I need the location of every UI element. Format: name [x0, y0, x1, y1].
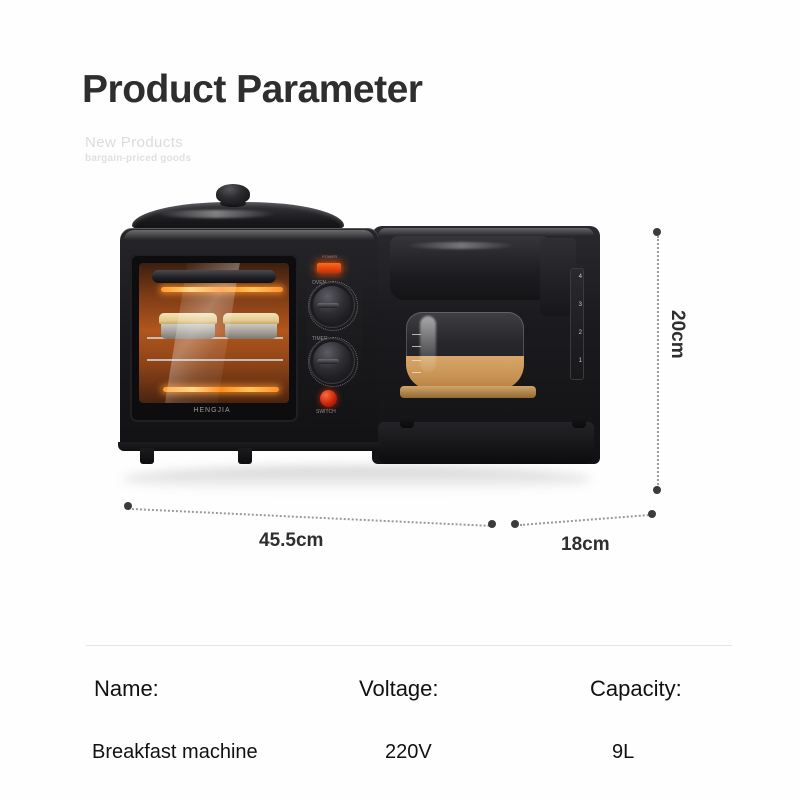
spec-header-name: Name: [94, 676, 159, 702]
warming-plate [400, 386, 536, 398]
oven-foot [140, 448, 154, 464]
power-switch[interactable] [312, 260, 346, 276]
temperature-knob[interactable] [313, 286, 351, 324]
toaster-oven-body: HENGJIA POWER OVEN TIMER SWITCH [120, 228, 378, 450]
carafe-graduation [412, 346, 421, 347]
coffee-maker-base [378, 422, 594, 464]
coffee-maker-foot [400, 416, 414, 428]
spec-header-voltage: Voltage: [359, 676, 439, 702]
coffee-maker-lid-sheen [406, 242, 516, 249]
height-dim-label: 20cm [666, 310, 688, 359]
glass-carafe [406, 312, 524, 390]
carafe-graduation [412, 372, 421, 373]
spec-value-voltage: 220V [385, 741, 432, 764]
brand-logo: HENGJIA [190, 404, 234, 416]
spec-divider [86, 645, 732, 646]
height-dim-dot-bottom [653, 486, 661, 494]
red-button-label: SWITCH [316, 409, 336, 415]
coffee-maker-top-highlight [378, 228, 594, 236]
width-dim-label: 45.5cm [259, 530, 323, 552]
gauge-mark-1: 1 [572, 358, 582, 364]
surface-reflection [122, 466, 592, 492]
spec-value-capacity: 9L [612, 741, 634, 764]
carafe-highlight [420, 316, 436, 372]
carafe-graduation [412, 360, 421, 361]
product-photo: 4 3 2 1 [100, 180, 660, 500]
power-indicator-light [317, 263, 341, 273]
depth-dim-label: 18cm [561, 534, 610, 556]
spec-header-capacity: Capacity: [590, 676, 682, 702]
water-level-gauge: 4 3 2 1 [570, 268, 584, 380]
griddle-lid-sheen [156, 210, 276, 218]
depth-dim-dot-left [511, 520, 519, 528]
spec-value-name: Breakfast machine [92, 741, 258, 764]
width-dim-line [132, 508, 494, 527]
lid-knob [216, 184, 250, 204]
gauge-mark-3: 3 [572, 302, 582, 308]
oven-glass-window [139, 263, 289, 403]
oven-door[interactable]: HENGJIA [130, 254, 298, 422]
power-label: POWER [322, 254, 337, 259]
width-dim-dot-right [488, 520, 496, 528]
gauge-mark-4: 4 [572, 274, 582, 280]
carafe-graduation [412, 334, 421, 335]
oven-foot [238, 448, 252, 464]
page-title: Product Parameter [82, 68, 422, 112]
height-dim-dot-top [653, 228, 661, 236]
red-power-button[interactable] [320, 390, 337, 407]
oven-door-handle[interactable] [152, 270, 276, 283]
gauge-mark-2: 2 [572, 330, 582, 336]
control-panel: POWER OVEN TIMER SWITCH [306, 254, 362, 424]
depth-dim-dot-right [648, 510, 656, 518]
width-dim-dot-left [124, 502, 132, 510]
timer-knob[interactable] [313, 342, 351, 380]
product-parameter-page: Product Parameter New Products bargain-p… [0, 0, 800, 800]
oven-top-highlight [124, 230, 374, 240]
subtitle-new-products: New Products [85, 134, 183, 151]
subtitle-bargain-priced: bargain-priced goods [85, 153, 191, 164]
depth-dim-line [520, 514, 652, 526]
height-dim-line [657, 236, 659, 488]
coffee-maker-foot [572, 416, 586, 428]
coffee-maker-body: 4 3 2 1 [372, 226, 600, 464]
